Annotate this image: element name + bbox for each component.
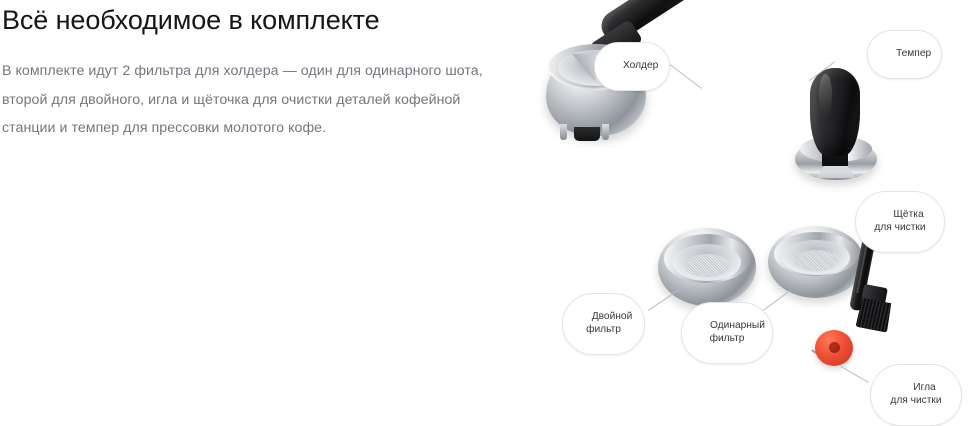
callout-brush[interactable]: Щётка для чистки xyxy=(855,191,945,253)
callout-brush-label: Щётка для чистки xyxy=(874,209,925,232)
callout-holder[interactable]: Холдер xyxy=(594,42,670,91)
text-column: Всё необходимое в комплекте В комплекте … xyxy=(2,2,512,143)
product-feature-section: Всё необходимое в комплекте В комплекте … xyxy=(0,0,970,412)
leader-line-needle xyxy=(841,366,869,383)
product-illustration: Холдер Темпер Щётка для чистки Двойной ф… xyxy=(530,0,970,412)
callout-needle[interactable]: Игла для чистки xyxy=(870,364,962,426)
callout-double-filter[interactable]: Двойной фильтр xyxy=(562,293,645,355)
needle-hole xyxy=(829,342,840,353)
callout-tamper[interactable]: Темпер xyxy=(867,30,942,79)
callout-double-filter-label: Двойной фильтр xyxy=(586,311,632,334)
basket-mesh xyxy=(684,254,729,277)
callout-single-filter-label: Одинарный фильтр xyxy=(710,320,765,343)
single-filter-basket xyxy=(768,226,864,298)
portafilter-leg-right xyxy=(602,124,609,140)
page-title: Всё необходимое в комплекте xyxy=(2,2,402,39)
callout-single-filter[interactable]: Одинарный фильтр xyxy=(681,302,773,364)
portafilter-leg-left xyxy=(560,124,567,140)
section-description: В комплекте идут 2 фильтра для холдера —… xyxy=(2,57,502,143)
tamper-knob xyxy=(810,68,860,156)
callout-tamper-label: Темпер xyxy=(896,48,931,59)
leader-line-holder xyxy=(669,64,702,89)
callout-holder-label: Холдер xyxy=(623,60,658,71)
portafilter-spout xyxy=(574,127,600,141)
callout-needle-label: Игла для чистки xyxy=(890,382,941,405)
